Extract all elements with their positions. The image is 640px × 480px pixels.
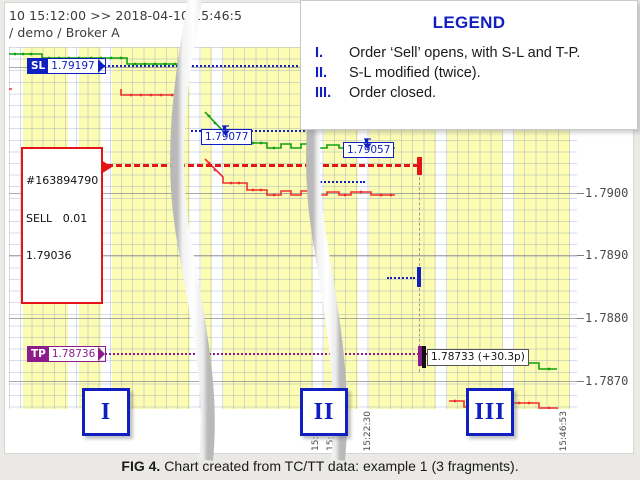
legend-item-text: Order ‘Sell’ opens, with S-L and T-P. [349, 45, 580, 61]
legend-item-number: I. [301, 45, 349, 61]
legend-title: LEGEND [301, 1, 637, 43]
legend-panel: LEGEND I. Order ‘Sell’ opens, with S-L a… [300, 0, 638, 130]
order-box-arrow-icon [101, 160, 112, 174]
stop-loss-level-line [89, 65, 309, 67]
legend-item: I. Order ‘Sell’ opens, with S-L and T-P. [301, 43, 637, 63]
stop-loss-tag: SL [28, 59, 48, 73]
header-account-path: / demo / Broker A [9, 25, 120, 40]
header-datetime-range: 10 15:12:00 >> 2018-04-10 15:46:5 [9, 8, 242, 23]
price-tick-label: 1.7900 [585, 186, 628, 200]
figure-root: 10 15:12:00 >> 2018-04-10 15:46:5 / demo… [0, 0, 640, 480]
price-tick-label: 1.7890 [585, 248, 628, 262]
event-time-cursor [419, 157, 420, 372]
figure-caption: FIG 4. Chart created from TC/TT data: ex… [0, 452, 640, 480]
close-marker-bar [422, 346, 426, 368]
order-volume: 0.01 [63, 212, 88, 225]
legend-item-number: III. [301, 85, 349, 101]
time-tick-label: 15:22:30 [363, 411, 373, 451]
order-side-volume: SELL 0.01 [26, 213, 98, 226]
legend-item-number: II. [301, 65, 349, 81]
take-profit-level-line [89, 353, 439, 355]
sl-modified-arrow-icon-1 [221, 125, 230, 136]
legend-list: I. Order ‘Sell’ opens, with S-L and T-P.… [301, 43, 637, 103]
chip-arrow-icon [98, 59, 105, 73]
sl-modified-arrow-icon-2 [363, 138, 372, 149]
fragment-marker-one[interactable]: I [82, 388, 130, 436]
legend-item: III. Order closed. [301, 83, 637, 103]
price-tick-label: 1.7870 [585, 374, 628, 388]
close-price-box[interactable]: 1.78733 (+30.3p) [427, 349, 529, 366]
figure-number: FIG 4. [121, 458, 160, 474]
figure-caption-text: Chart created from TC/TT data: example 1… [164, 458, 518, 474]
take-profit-label-chip[interactable]: TP 1.78736 [27, 346, 106, 362]
time-tick-label-right: 15:46:53 [559, 411, 569, 451]
fragment-marker-three[interactable]: III [466, 388, 514, 436]
open-price-level-line [89, 164, 419, 167]
take-profit-value: 1.78736 [49, 347, 98, 361]
legend-item: II. S-L modified (twice). [301, 63, 637, 83]
order-info-box[interactable]: #163894790 SELL 0.01 1.79036 [21, 147, 103, 304]
order-price: 1.79036 [26, 250, 98, 263]
chip-arrow-icon [98, 347, 105, 361]
stop-loss-value: 1.79197 [48, 59, 97, 73]
legend-item-text: Order closed. [349, 85, 436, 101]
price-tick-label: 1.7880 [585, 311, 628, 325]
order-side: SELL [26, 212, 52, 225]
close-tick-blue [417, 267, 421, 287]
close-connector-dotline [387, 277, 415, 279]
legend-item-text: S-L modified (twice). [349, 65, 481, 81]
stop-loss-label-chip[interactable]: SL 1.79197 [27, 58, 106, 74]
take-profit-tag: TP [28, 347, 49, 361]
open-price-tick-red [417, 157, 422, 175]
stop-loss-level-line-right [309, 181, 365, 183]
fragment-marker-two[interactable]: II [300, 388, 348, 436]
order-ticket: #163894790 [26, 175, 98, 188]
